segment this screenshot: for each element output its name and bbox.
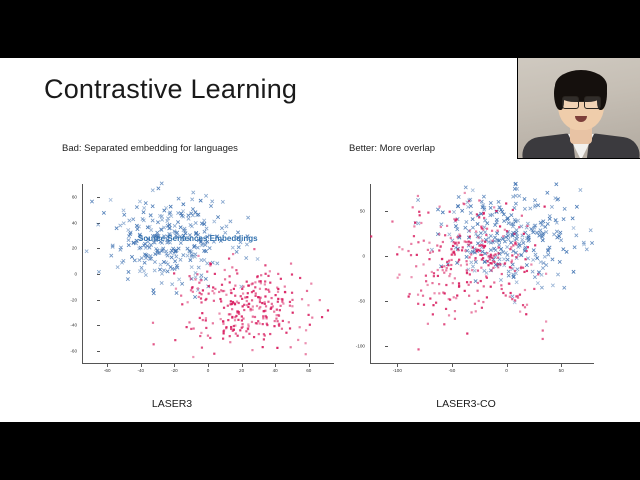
scatter-plot-laser3-co: 500-50-100-100-50050 bbox=[348, 176, 600, 388]
glasses-bridge-icon bbox=[577, 101, 584, 102]
annotation-source-embeddings: Source Sentences Embeddings bbox=[138, 234, 258, 243]
video-frame: Contrastive Learning Bad: Separated embe… bbox=[0, 0, 640, 480]
y-axis-left bbox=[82, 184, 83, 364]
chart-footer-left: LASER3 bbox=[112, 398, 232, 410]
glasses-lens-left-icon bbox=[562, 96, 579, 109]
scatter-points-left bbox=[60, 176, 340, 388]
chart-caption-left: Bad: Separated embedding for languages bbox=[62, 143, 238, 154]
glasses-lens-right-icon bbox=[584, 96, 601, 109]
y-axis-right bbox=[370, 184, 371, 364]
scatter-plot-laser3: 6040200-20-40-60-60-40-200204060 Source … bbox=[60, 176, 340, 388]
letterbox-bottom bbox=[0, 422, 640, 480]
scatter-points-right bbox=[348, 176, 600, 388]
chart-caption-right: Better: More overlap bbox=[349, 143, 435, 154]
chart-footer-right: LASER3-CO bbox=[406, 398, 526, 410]
page-title: Contrastive Learning bbox=[44, 74, 297, 105]
presenter-webcam-overlay[interactable] bbox=[517, 58, 640, 159]
letterbox-top bbox=[0, 0, 640, 58]
